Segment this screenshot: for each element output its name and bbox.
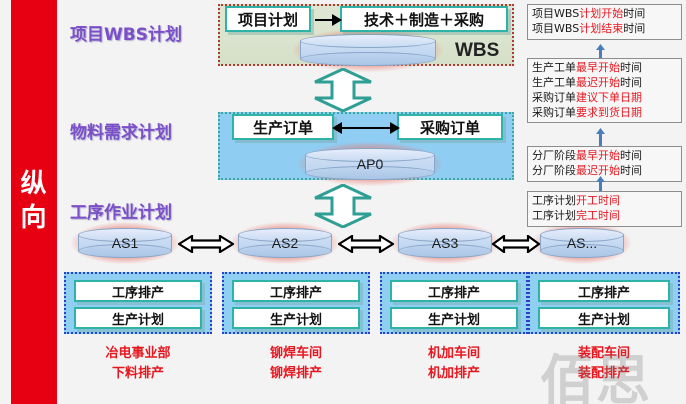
as-more-cylinder: AS... (540, 228, 624, 258)
diagram-canvas: 纵 向 项目WBS计划 物料需求计划 工序作业计划 WBS 项目计划 技术＋制造… (0, 0, 686, 404)
wbs-panel-label: WBS (455, 40, 499, 62)
note-line: 生产工单最迟开始时间 (532, 76, 677, 91)
box-tech-mfg-procure[interactable]: 技术＋制造＋采购 (340, 6, 508, 32)
cylinder-label: AS... (540, 228, 624, 258)
as2-cylinder: AS2 (238, 228, 332, 258)
arrow-production-purchase-bidirectional (341, 127, 391, 129)
arrow-head-right-icon (390, 122, 400, 134)
shop-panel-3: 工序排产 生产计划 (380, 272, 528, 334)
shop-dept-label: 装配车间 (528, 344, 680, 364)
arrow-head-left-icon (332, 122, 342, 134)
note-operation-times: 工序计划开工时间 工序计划完工时间 (527, 191, 682, 227)
as1-cylinder: AS1 (78, 228, 172, 258)
box-project-plan[interactable]: 项目计划 (225, 6, 311, 32)
shop-caption-4: 装配车间 装配排产 (528, 344, 680, 384)
section-title-operation: 工序作业计划 (70, 198, 172, 223)
box-production-order[interactable]: 生产订单 (232, 114, 334, 140)
shop-panel-1: 工序排产 生产计划 (64, 272, 212, 334)
cylinder-label: AS3 (398, 228, 492, 258)
shop-plan-box[interactable]: 生产计划 (232, 307, 360, 329)
note-line: 生产工单最早开始时间 (532, 61, 677, 76)
shop-caption-3: 机加车间 机加排产 (380, 344, 528, 384)
blue-up-arrow-icon (596, 176, 605, 192)
arrow-as3-asmore-bidirectional (492, 235, 540, 251)
shop-task-label: 机加排产 (380, 364, 528, 384)
note-line: 项目WBS计划结束时间 (532, 22, 677, 37)
shop-dept-label: 铆焊车间 (222, 344, 370, 364)
arrow-project-to-tech (315, 19, 333, 21)
shop-panel-2: 工序排产 生产计划 (222, 272, 370, 334)
note-order-times: 生产工单最早开始时间 生产工单最迟开始时间 采购订单建议下单日期 采购订单要求到… (527, 58, 682, 123)
note-line: 工序计划完工时间 (532, 209, 677, 224)
shop-dept-label: 机加车间 (380, 344, 528, 364)
cylinder-label (300, 34, 436, 66)
shop-panel-4: 工序排产 生产计划 (528, 272, 680, 334)
arrow-as2-as3-bidirectional (338, 235, 394, 251)
vertical-double-arrow-wbs-mrp (312, 68, 374, 116)
arrow-as1-as2-bidirectional (178, 235, 234, 251)
arrow-head-right-icon (332, 14, 342, 26)
shop-task-label: 装配排产 (528, 364, 680, 384)
box-purchase-order[interactable]: 采购订单 (397, 114, 503, 140)
vertical-axis-band: 纵 向 (11, 0, 57, 404)
shop-scheduling-box[interactable]: 工序排产 (538, 280, 670, 302)
cylinder-label: AS1 (78, 228, 172, 258)
shop-task-label: 下料排产 (64, 364, 212, 384)
note-line: 工序计划开工时间 (532, 194, 677, 209)
shop-dept-label: 冶电事业部 (64, 344, 212, 364)
cylinder-label: AS2 (238, 228, 332, 258)
section-title-wbs: 项目WBS计划 (70, 20, 182, 45)
shop-scheduling-box[interactable]: 工序排产 (390, 280, 518, 302)
vertical-double-arrow-mrp-op (312, 184, 374, 232)
shop-caption-2: 铆焊车间 铆焊排产 (222, 344, 370, 384)
as3-cylinder: AS3 (398, 228, 492, 258)
shop-scheduling-box[interactable]: 工序排产 (74, 280, 202, 302)
note-line: 分厂阶段最早开始时间 (532, 149, 677, 164)
shop-caption-1: 冶电事业部 下料排产 (64, 344, 212, 384)
shop-task-label: 铆焊排产 (222, 364, 370, 384)
note-line: 采购订单要求到货日期 (532, 106, 677, 121)
shop-plan-box[interactable]: 生产计划 (390, 307, 518, 329)
section-title-mrp: 物料需求计划 (70, 118, 172, 143)
wbs-database-cylinder (300, 34, 436, 66)
vertical-axis-char-1: 纵 (20, 170, 47, 200)
note-line: 采购订单建议下单日期 (532, 91, 677, 106)
blue-up-arrow-icon (596, 128, 605, 146)
shop-plan-box[interactable]: 生产计划 (538, 307, 670, 329)
vertical-axis-char-2: 向 (20, 204, 47, 234)
note-line: 项目WBS计划开始时间 (532, 7, 677, 22)
note-wbs-times: 项目WBS计划开始时间 项目WBS计划结束时间 (527, 4, 682, 40)
cylinder-label: AP0 (305, 148, 435, 180)
shop-scheduling-box[interactable]: 工序排产 (232, 280, 360, 302)
ap0-database-cylinder: AP0 (305, 148, 435, 180)
shop-plan-box[interactable]: 生产计划 (74, 307, 202, 329)
